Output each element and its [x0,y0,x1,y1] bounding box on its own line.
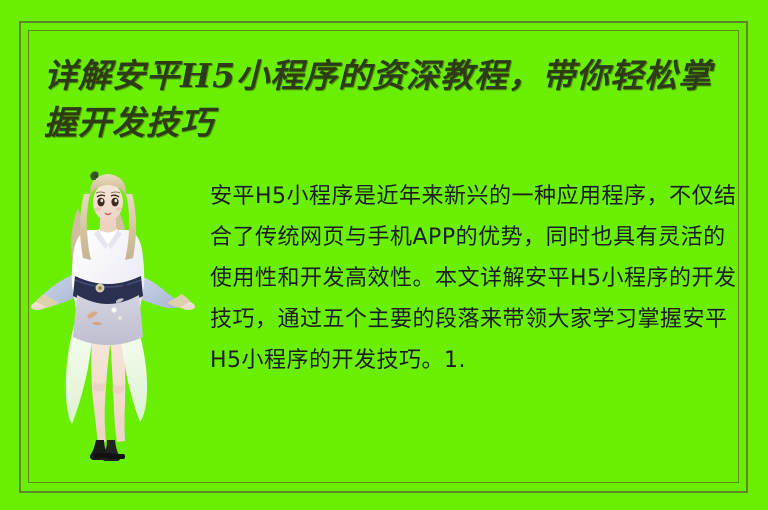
article-content: 安平H5小程序是近年来新兴的一种应用程序，不仅结合了传统网页与手机APP的优势，… [30,168,738,483]
article-body-text: 安平H5小程序是近年来新兴的一种应用程序，不仅结合了传统网页与手机APP的优势，… [210,176,738,381]
anime-figure-illustration [30,168,198,483]
article-card: 详解安平H5小程序的资深教程，带你轻松掌握开发技巧 [0,0,768,510]
article-illustration [30,168,198,483]
article-title-block: 详解安平H5小程序的资深教程，带你轻松掌握开发技巧 [44,52,734,146]
article-body-block: 安平H5小程序是近年来新兴的一种应用程序，不仅结合了传统网页与手机APP的优势，… [198,168,738,381]
page-title: 详解安平H5小程序的资深教程，带你轻松掌握开发技巧 [44,52,734,146]
